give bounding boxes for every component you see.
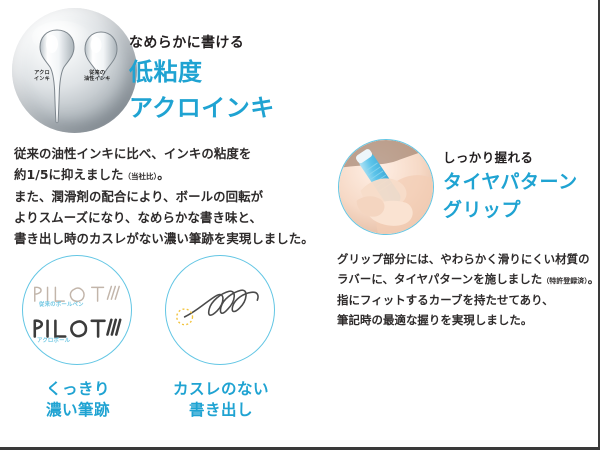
sample-caption-no-skip: カスレのない 書き出し — [166, 379, 276, 421]
ink-headline-line1: 低粘度 — [129, 59, 275, 86]
ink-kicker: なめらかに書ける — [129, 36, 275, 50]
grip-kicker: しっかり握れる — [443, 152, 578, 165]
ink-body-line-1: 従来の油性インキに比べ、インキの粘度を — [14, 143, 314, 164]
ink-headline-line2: アクロインキ — [129, 95, 275, 122]
grip-body-line-1: グリップ部分には、やわらかく滑りにくい材質の — [337, 249, 599, 269]
grip-body-line-4: 筆記時の最適な握りを実現しました。 — [337, 310, 599, 330]
scribble-graphic — [166, 256, 274, 364]
grip-body-line-3: 指にフィットするカーブを持たせてあり、 — [337, 290, 599, 310]
ink-body-note-suffix: 。 — [157, 167, 170, 182]
product-feature-page: アクロ インキ 従来の 油性インキ なめらかに書ける 低粘度 アクロインキ 従来… — [0, 0, 600, 450]
ink-body-line-2-text: 約1/5に抑えました — [14, 167, 124, 182]
writing-sample-circle-no-skip — [165, 255, 275, 365]
sample-caption-dark-line: くっきり 濃い筆跡 — [26, 379, 130, 421]
sample-label-acroball: アクロボール — [37, 336, 70, 344]
hand-holding-pen-photo — [339, 140, 433, 234]
grip-feature-body: グリップ部分には、やわらかく滑りにくい材質の ラバーに、タイヤパターンを施しまし… — [337, 249, 599, 330]
acro-ink-drop-label: アクロ インキ — [34, 71, 50, 83]
ink-body-line-5: 書き出し時のカスレがない濃い筆跡を実現しました。 — [14, 228, 314, 249]
ink-body-note: （当社比） — [124, 172, 158, 181]
ink-comparison-illustration: アクロ インキ 従来の 油性インキ — [12, 8, 137, 133]
sample-caption-no-skip-1: カスレのない — [173, 380, 269, 398]
sample-caption-no-skip-2: 書き出し — [189, 401, 253, 419]
grip-body-line-2-text: ラバーに、タイヤパターンを施しました — [337, 272, 542, 286]
pilot-handwriting-graphic — [23, 256, 131, 364]
grip-photo-circle — [338, 139, 434, 235]
ink-feature-body: 従来の油性インキに比べ、インキの粘度を 約1/5に抑えました（当社比）。 また、… — [14, 143, 314, 250]
ink-feature-heading: なめらかに書ける 低粘度 アクロインキ — [129, 36, 275, 122]
sample-caption-dark-line-1: くっきり — [46, 380, 110, 398]
writing-sample-circle-dark-line: 従来のボールペン アクロボール — [22, 255, 132, 365]
ink-body-line-3: また、潤滑剤の配合により、ボールの回転が — [14, 186, 314, 207]
sample-caption-dark-line-2: 濃い筆跡 — [46, 401, 110, 419]
grip-headline-line2: グリップ — [443, 200, 578, 221]
grip-headline-line1: タイヤパターン — [443, 172, 578, 193]
ink-body-line-4: よりスムーズになり、なめらかな書き味と、 — [14, 207, 314, 228]
grip-body-note-suffix: 。 — [588, 272, 600, 286]
grip-body-note: （特許登録済） — [542, 277, 588, 285]
sample-label-conventional-pen: 従来のボールペン — [39, 300, 84, 308]
grip-feature-heading: しっかり握れる タイヤパターン グリップ — [443, 152, 578, 221]
ink-body-line-2: 約1/5に抑えました（当社比）。 — [14, 164, 314, 185]
conventional-ink-drop-label: 従来の 油性インキ — [84, 71, 110, 83]
grip-body-line-2: ラバーに、タイヤパターンを施しました（特許登録済）。 — [337, 269, 599, 289]
